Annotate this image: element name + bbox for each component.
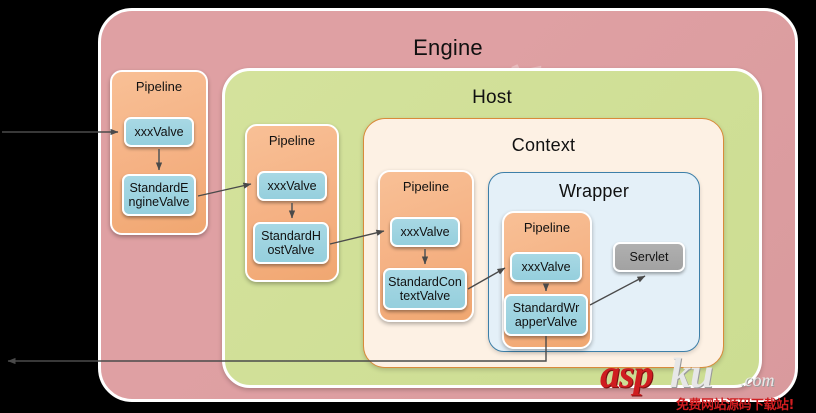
- valve-standard-host-label-line1: StandardH: [261, 229, 321, 243]
- container-context-label: Context: [364, 135, 723, 156]
- valve-context-xxx-label: xxxValve: [400, 225, 449, 239]
- servlet-box[interactable]: Servlet: [613, 242, 685, 272]
- container-engine-label: Engine: [101, 35, 795, 61]
- logo-ku-text: ku: [670, 350, 712, 398]
- logo-dotcom-text: .com: [740, 370, 775, 391]
- valve-standard-wrapper-label-line1: StandardWr: [513, 301, 579, 315]
- logo-tagline-text: 免费网站源码下载站!: [676, 394, 794, 413]
- logo-asp-text: asp: [600, 350, 653, 397]
- valve-standard-context[interactable]: StandardCon textValve: [383, 268, 467, 310]
- container-wrapper-label: Wrapper: [489, 181, 699, 202]
- valve-standard-engine-label-line2: ngineValve: [129, 195, 190, 209]
- valve-standard-engine-label-line1: StandardE: [129, 181, 188, 195]
- valve-standard-wrapper[interactable]: StandardWr apperValve: [504, 294, 588, 336]
- valve-standard-context-label-line2: textValve: [400, 289, 451, 303]
- valve-standard-host[interactable]: StandardH ostValve: [253, 222, 329, 264]
- diagram-canvas: Engine 百度 Host Context Wrapper Pipeline …: [0, 0, 816, 410]
- valve-standard-context-label-line1: StandardCon: [388, 275, 462, 289]
- valve-engine-xxx-label: xxxValve: [134, 125, 183, 139]
- servlet-label: Servlet: [630, 250, 669, 264]
- valve-context-xxx[interactable]: xxxValve: [390, 217, 460, 247]
- valve-wrapper-xxx-label: xxxValve: [521, 260, 570, 274]
- pipeline-context-label: Pipeline: [380, 179, 472, 194]
- pipeline-host-label: Pipeline: [247, 133, 337, 148]
- valve-host-xxx[interactable]: xxxValve: [257, 171, 327, 201]
- valve-wrapper-xxx[interactable]: xxxValve: [510, 252, 582, 282]
- aspku-logo: asp ku .com 免费网站源码下载站!: [600, 350, 812, 408]
- valve-standard-engine[interactable]: StandardE ngineValve: [122, 174, 196, 216]
- container-host-label: Host: [225, 87, 759, 109]
- valve-host-xxx-label: xxxValve: [267, 179, 316, 193]
- pipeline-wrapper-label: Pipeline: [504, 220, 590, 235]
- valve-engine-xxx[interactable]: xxxValve: [124, 117, 194, 147]
- pipeline-engine-label: Pipeline: [112, 79, 206, 94]
- valve-standard-host-label-line2: ostValve: [267, 243, 314, 257]
- valve-standard-wrapper-label-line2: apperValve: [515, 315, 577, 329]
